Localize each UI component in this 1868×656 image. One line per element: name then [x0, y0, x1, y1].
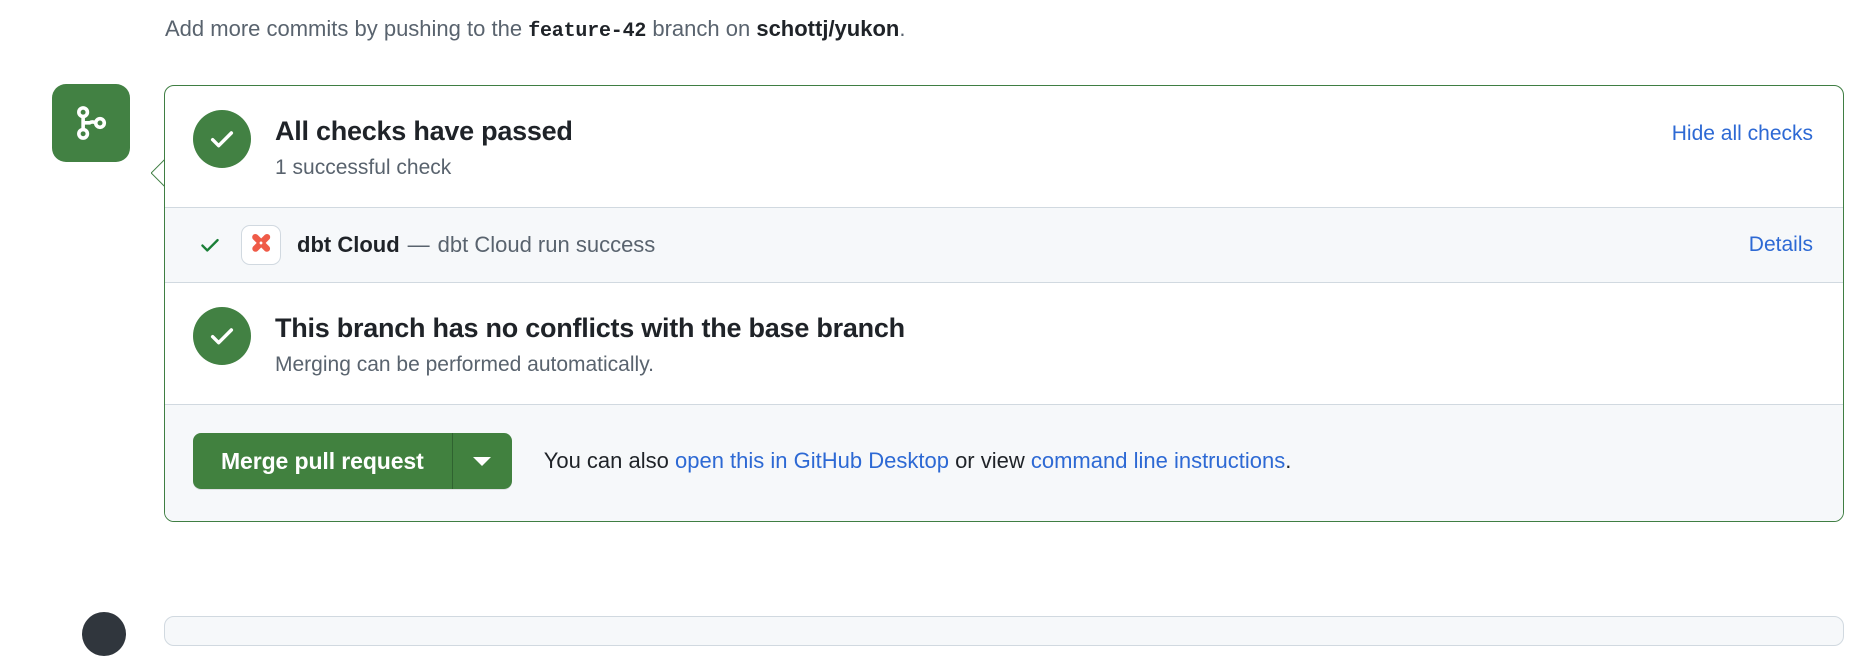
push-note-prefix: Add more commits by pushing to the [165, 16, 522, 41]
checks-summary-title: All checks have passed [275, 114, 573, 148]
next-timeline-box [164, 616, 1844, 646]
check-run-description: dbt Cloud run success [438, 232, 656, 258]
branch-name: feature-42 [528, 20, 646, 43]
conflicts-subtitle: Merging can be performed automatically. [275, 350, 905, 380]
footer-note-prefix: You can also [544, 448, 669, 473]
check-run-details-link[interactable]: Details [1749, 233, 1813, 257]
footer-note-suffix: . [1285, 448, 1291, 473]
hide-all-checks-link[interactable]: Hide all checks [1672, 122, 1813, 146]
footer-note-middle: or view [955, 448, 1025, 473]
check-circle-icon [193, 307, 251, 365]
check-icon [193, 232, 227, 258]
merge-pull-request-button[interactable]: Merge pull request [193, 433, 452, 489]
checks-summary-row: All checks have passed 1 successful chec… [193, 110, 1815, 183]
merge-footer-note: You can also open this in GitHub Desktop… [544, 446, 1292, 476]
push-more-commits-note: Add more commits by pushing to the featu… [165, 14, 905, 47]
chevron-down-icon [473, 457, 491, 466]
push-note-middle: branch on [652, 16, 750, 41]
check-run-name: dbt Cloud [297, 232, 400, 258]
merge-options-dropdown-button[interactable] [452, 433, 512, 489]
push-note-suffix: . [899, 16, 905, 41]
checks-summary-subtitle: 1 successful check [275, 153, 573, 183]
command-line-instructions-link[interactable]: command line instructions [1031, 448, 1285, 473]
next-timeline-avatar [82, 612, 126, 656]
conflicts-text: This branch has no conflicts with the ba… [275, 307, 905, 380]
open-in-github-desktop-link[interactable]: open this in GitHub Desktop [675, 448, 949, 473]
git-merge-icon [73, 105, 109, 141]
conflicts-title: This branch has no conflicts with the ba… [275, 311, 905, 345]
check-run-separator: — [408, 232, 430, 258]
check-circle-icon [193, 110, 251, 168]
conflicts-section: This branch has no conflicts with the ba… [165, 283, 1843, 405]
merge-status-box: All checks have passed 1 successful chec… [164, 85, 1844, 522]
dbt-cloud-logo-icon [241, 225, 281, 265]
checks-summary-section: All checks have passed 1 successful chec… [165, 86, 1843, 208]
conflicts-row: This branch has no conflicts with the ba… [193, 307, 1815, 380]
check-run-row[interactable]: dbt Cloud — dbt Cloud run success Detail… [165, 208, 1843, 283]
merge-footer: Merge pull request You can also open thi… [165, 405, 1843, 521]
git-merge-badge [52, 84, 130, 162]
checks-summary-text: All checks have passed 1 successful chec… [275, 110, 573, 183]
repository-name: schottj/yukon [756, 16, 899, 41]
merge-button-group: Merge pull request [193, 433, 512, 489]
